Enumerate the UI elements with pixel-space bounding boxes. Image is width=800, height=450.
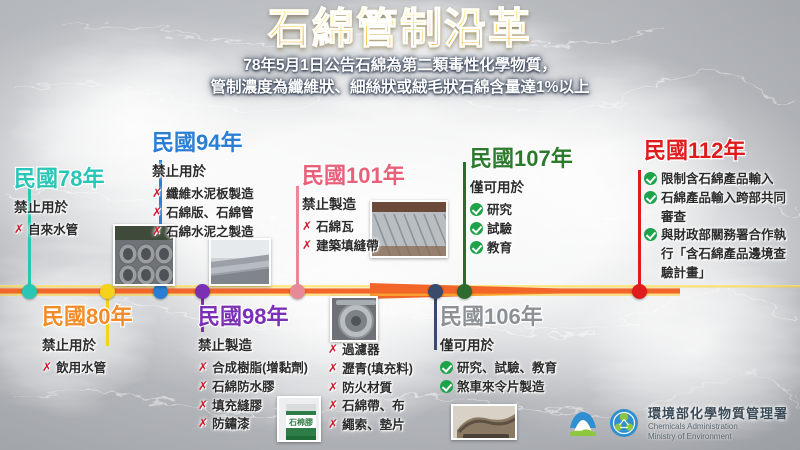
items-106: 研究、試驗、教育 煞車來令片製造: [440, 359, 610, 397]
list-item: ✗防鏽漆: [198, 415, 338, 434]
list-item: 教育: [470, 239, 620, 258]
item-text: 瀝青(填充料): [342, 360, 413, 379]
list-item: ✗自來水管: [14, 221, 154, 240]
heading-78: 禁止用於: [14, 196, 154, 216]
check-icon: [644, 172, 657, 185]
year-label-101: 民國101年: [302, 165, 432, 187]
year-label-94: 民國94年: [152, 132, 302, 154]
item-text: 建築填縫帶: [316, 237, 379, 256]
node-106[interactable]: [428, 284, 443, 299]
list-item: ✗飲用水管: [42, 359, 172, 378]
node-98[interactable]: [195, 284, 210, 299]
block-year-98-col2: ✗過濾器 ✗瀝青(填充料) ✗防火材質 ✗石綿帶、布 ✗繩索、墊片: [328, 341, 448, 435]
list-item: ✗過濾器: [328, 341, 448, 360]
item-text: 研究、試驗、教育: [457, 359, 557, 378]
item-text: 防鏽漆: [212, 415, 250, 434]
subtitle-line-1: 78年5月1日公告石綿為第二類毒性化學物質，: [0, 55, 800, 77]
node-94[interactable]: [153, 284, 168, 299]
list-item: 石綿產品輸入跨部共同審查: [644, 189, 798, 227]
check-icon: [644, 191, 657, 204]
check-icon: [644, 228, 657, 241]
cross-icon: ✗: [14, 221, 24, 237]
cross-icon: ✗: [302, 237, 312, 253]
cross-icon: ✗: [198, 397, 208, 413]
list-item: ✗石綿帶、布: [328, 397, 448, 416]
heading-98: 禁止製造: [198, 334, 338, 354]
item-text: 與財政部關務署合作執行「含石綿產品邊境查驗計畫」: [661, 226, 798, 282]
block-year-78[interactable]: 民國78年 禁止用於 ✗自來水管: [14, 168, 154, 240]
cross-icon: ✗: [198, 359, 208, 375]
check-icon: [470, 203, 483, 216]
list-item: ✗繩索、墊片: [328, 416, 448, 435]
brake-pad-photo: [451, 404, 517, 440]
node-107[interactable]: [457, 284, 472, 299]
item-text: 石綿產品輸入跨部共同審查: [661, 189, 798, 227]
footer-branding: 環境部化學物質管理署 Chemicals Administration Mini…: [566, 403, 788, 442]
items-98-col1: ✗合成樹脂(增黏劑) ✗石綿防水膠 ✗填充縫膠 ✗防鏽漆: [198, 359, 338, 434]
item-text: 石綿帶、布: [342, 397, 405, 416]
block-year-106[interactable]: 民國106年 僅可用於 研究、試驗、教育 煞車來令片製造: [440, 306, 610, 397]
list-item: ✗石綿瓦: [302, 218, 432, 237]
subtitle-line-2: 管制濃度為纖維狀、細絲狀或絨毛狀石綿含量達1%以上: [0, 77, 800, 99]
heading-106: 僅可用於: [440, 334, 610, 354]
year-label-112: 民國112年: [644, 140, 798, 162]
cross-icon: ✗: [302, 218, 312, 234]
check-icon: [470, 222, 483, 235]
items-101: ✗石綿瓦 ✗建築填縫帶: [302, 218, 432, 256]
year-label-78: 民國78年: [14, 168, 154, 190]
check-icon: [440, 380, 453, 393]
cross-icon: ✗: [198, 415, 208, 431]
item-text: 研究: [487, 201, 512, 220]
check-icon: [440, 361, 453, 374]
node-101[interactable]: [290, 284, 305, 299]
list-item: 限制含石綿產品輸入: [644, 170, 798, 189]
block-year-98[interactable]: 民國98年 禁止製造 ✗合成樹脂(增黏劑) ✗石綿防水膠 ✗填充縫膠 ✗防鏽漆: [198, 306, 338, 434]
list-item: 與財政部關務署合作執行「含石綿產品邊境查驗計畫」: [644, 226, 798, 282]
block-year-112[interactable]: 民國112年 限制含石綿產品輸入 石綿產品輸入跨部共同審查 與財政部關務署合作執…: [644, 140, 798, 283]
block-year-94[interactable]: 民國94年 禁止用於 ✗纖維水泥板製造 ✗石綿版、石綿管 ✗石綿水泥之製造: [152, 132, 302, 241]
cross-icon: ✗: [328, 360, 338, 376]
year-label-80: 民國80年: [42, 306, 172, 328]
list-item: ✗填充縫膠: [198, 397, 338, 416]
list-item: ✗纖維水泥板製造: [152, 185, 302, 204]
cross-icon: ✗: [198, 378, 208, 394]
node-78[interactable]: [22, 284, 37, 299]
item-text: 煞車來令片製造: [457, 378, 545, 397]
node-112[interactable]: [632, 284, 647, 299]
heading-101: 禁止製造: [302, 193, 432, 213]
org-name-en-1: Chemicals Administration: [648, 422, 788, 432]
list-item: 煞車來令片製造: [440, 378, 610, 397]
cross-icon: ✗: [328, 416, 338, 432]
item-text: 教育: [487, 239, 512, 258]
cross-icon: ✗: [152, 185, 162, 201]
block-year-80[interactable]: 民國80年 禁止用於 ✗飲用水管: [42, 306, 172, 378]
item-text: 防火材質: [342, 379, 392, 398]
list-item: ✗合成樹脂(增黏劑): [198, 359, 338, 378]
item-text: 試驗: [487, 220, 512, 239]
list-item: ✗防火材質: [328, 379, 448, 398]
cross-icon: ✗: [152, 223, 162, 239]
list-item: ✗石綿版、石綿管: [152, 204, 302, 223]
ministry-environment-logo-icon: [566, 406, 600, 440]
cross-icon: ✗: [328, 341, 338, 357]
org-name-zh: 環境部化學物質管理署: [648, 403, 788, 422]
year-label-107: 民國107年: [470, 148, 620, 170]
item-text: 石綿瓦: [316, 218, 354, 237]
item-text: 石綿防水膠: [212, 378, 275, 397]
list-item: ✗石綿防水膠: [198, 378, 338, 397]
item-text: 石綿版、石綿管: [166, 204, 254, 223]
cross-icon: ✗: [42, 359, 52, 375]
year-label-106: 民國106年: [440, 306, 610, 328]
items-107: 研究 試驗 教育: [470, 201, 620, 257]
item-text: 繩索、墊片: [342, 416, 405, 435]
item-text: 飲用水管: [56, 359, 106, 378]
heading-80: 禁止用於: [42, 334, 172, 354]
page-subtitle: 78年5月1日公告石綿為第二類毒性化學物質， 管制濃度為纖維狀、細絲狀或絨毛狀石…: [0, 55, 800, 99]
item-text: 石綿水泥之製造: [166, 223, 254, 242]
org-name-en-2: Ministry of Environment: [648, 432, 788, 442]
heading-107: 僅可用於: [470, 176, 620, 196]
chemicals-administration-logo-icon: [607, 406, 641, 440]
heading-94: 禁止用於: [152, 160, 302, 180]
list-item: ✗瀝青(填充料): [328, 360, 448, 379]
cross-icon: ✗: [152, 204, 162, 220]
item-text: 過濾器: [342, 341, 380, 360]
stem-112: [638, 170, 641, 288]
org-text: 環境部化學物質管理署 Chemicals Administration Mini…: [648, 403, 788, 442]
year-label-98: 民國98年: [198, 306, 338, 328]
item-text: 限制含石綿產品輸入: [661, 170, 774, 189]
block-year-101[interactable]: 民國101年 禁止製造 ✗石綿瓦 ✗建築填縫帶: [302, 165, 432, 256]
items-94: ✗纖維水泥板製造 ✗石綿版、石綿管 ✗石綿水泥之製造: [152, 185, 302, 241]
item-text: 自來水管: [28, 221, 78, 240]
infographic-canvas: 石綿管制沿革 78年5月1日公告石綿為第二類毒性化學物質， 管制濃度為纖維狀、細…: [0, 0, 800, 450]
items-112: 限制含石綿產品輸入 石綿產品輸入跨部共同審查 與財政部關務署合作執行「含石綿產品…: [644, 170, 798, 283]
block-year-107[interactable]: 民國107年 僅可用於 研究 試驗 教育: [470, 148, 620, 257]
items-80: ✗飲用水管: [42, 359, 172, 378]
item-text: 合成樹脂(增黏劑): [212, 359, 308, 378]
item-text: 纖維水泥板製造: [166, 185, 254, 204]
page-title: 石綿管制沿革: [0, 0, 800, 51]
list-item: 研究: [470, 201, 620, 220]
cement-board-photo: [209, 238, 271, 286]
list-item: 研究、試驗、教育: [440, 359, 610, 378]
item-text: 填充縫膠: [212, 397, 262, 416]
items-78: ✗自來水管: [14, 221, 154, 240]
list-item: 試驗: [470, 220, 620, 239]
stem-107: [463, 162, 466, 288]
items-98-col2: ✗過濾器 ✗瀝青(填充料) ✗防火材質 ✗石綿帶、布 ✗繩索、墊片: [328, 341, 448, 435]
list-item: ✗石綿水泥之製造: [152, 223, 302, 242]
cross-icon: ✗: [328, 397, 338, 413]
check-icon: [470, 241, 483, 254]
node-80[interactable]: [100, 284, 115, 299]
cross-icon: ✗: [328, 379, 338, 395]
header: 石綿管制沿革 78年5月1日公告石綿為第二類毒性化學物質， 管制濃度為纖維狀、細…: [0, 0, 800, 99]
list-item: ✗建築填縫帶: [302, 237, 432, 256]
